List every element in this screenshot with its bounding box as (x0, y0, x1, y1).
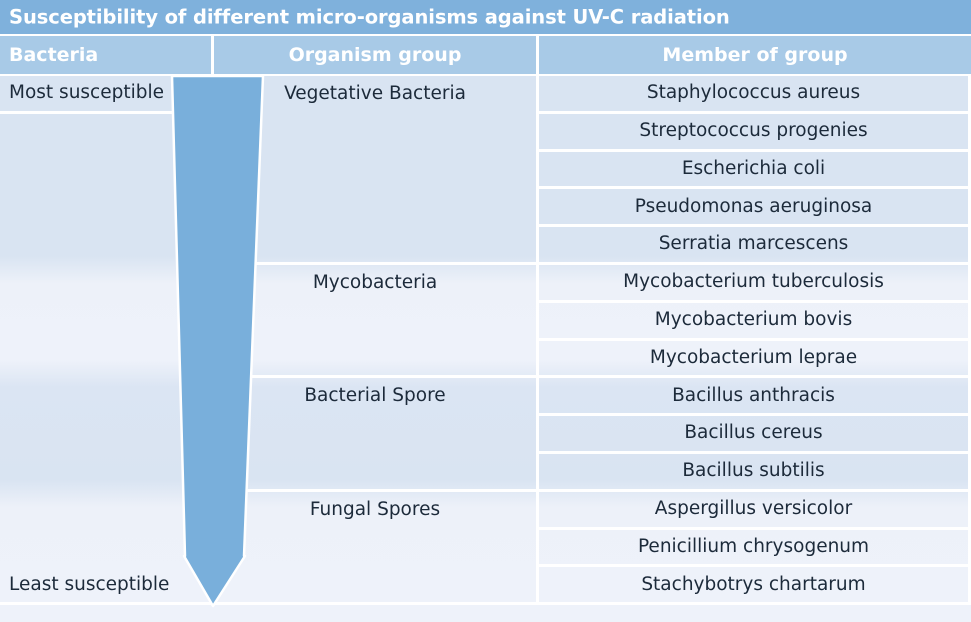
member-cell-7-label: Mycobacterium leprae (650, 349, 857, 368)
member-cell-8: Bacillus anthracis (539, 378, 971, 416)
member-cell-13-label: Stachybotrys chartarum (641, 576, 865, 595)
member-cell-12: Penicillium chrysogenum (539, 530, 971, 568)
organism-group-cell-1-label: Mycobacteria (313, 274, 437, 293)
scale-label-most-susceptible-label: Most susceptible (9, 84, 164, 103)
column-header-organism-group: Organism group (214, 36, 536, 74)
scale-label-least-susceptible: Least susceptible (0, 567, 214, 605)
organism-group-cell-0-label: Vegetative Bacteria (284, 85, 466, 104)
member-cell-3-label: Pseudomonas aeruginosa (635, 198, 873, 217)
organism-group-cell-2-label: Bacterial Spore (304, 387, 445, 406)
member-cell-4-label: Serratia marcescens (659, 235, 849, 254)
scale-label-least-susceptible-label: Least susceptible (9, 576, 169, 595)
member-cell-10: Bacillus subtilis (539, 454, 971, 492)
member-cell-11-label: Aspergillus versicolor (655, 500, 852, 519)
member-cell-7: Mycobacterium leprae (539, 341, 971, 379)
page-title: Susceptibility of different micro-organi… (9, 6, 730, 29)
organism-group-cell-3: Fungal Spores (214, 492, 539, 605)
organism-group-cell-1: Mycobacteria (214, 265, 539, 378)
member-cell-1: Streptococcus progenies (539, 114, 971, 152)
member-cell-0-label: Staphylococcus aureus (647, 84, 860, 103)
member-cell-5-label: Mycobacterium tuberculosis (623, 273, 884, 292)
member-cell-3: Pseudomonas aeruginosa (539, 189, 971, 227)
column-header-member-of-group: Member of group (539, 36, 971, 74)
column-header-bacteria: Bacteria (0, 36, 211, 74)
member-cell-0: Staphylococcus aureus (539, 76, 971, 114)
member-cell-2-label: Escherichia coli (682, 160, 825, 179)
table-title-band: Susceptibility of different micro-organi… (0, 0, 971, 34)
member-cell-10-label: Bacillus subtilis (682, 462, 824, 481)
member-cell-8-label: Bacillus anthracis (672, 387, 835, 406)
member-cell-4: Serratia marcescens (539, 227, 971, 265)
organism-group-cell-0: Vegetative Bacteria (214, 76, 539, 265)
member-cell-9: Bacillus cereus (539, 416, 971, 454)
member-cell-1-label: Streptococcus progenies (639, 122, 867, 141)
member-cell-9-label: Bacillus cereus (684, 424, 822, 443)
member-cell-12-label: Penicillium chrysogenum (638, 538, 869, 557)
member-cell-2: Escherichia coli (539, 152, 971, 190)
organism-group-cell-2: Bacterial Spore (214, 378, 539, 491)
member-cell-11: Aspergillus versicolor (539, 492, 971, 530)
scale-label-most-susceptible: Most susceptible (0, 76, 214, 114)
scale-arrow-cell (0, 114, 214, 568)
member-cell-6: Mycobacterium bovis (539, 303, 971, 341)
table-header-row: Bacteria Organism group Member of group (0, 36, 971, 74)
organism-group-cell-3-label: Fungal Spores (310, 501, 440, 520)
member-cell-6-label: Mycobacterium bovis (655, 311, 852, 330)
member-cell-5: Mycobacterium tuberculosis (539, 265, 971, 303)
table-body: Most susceptibleLeast susceptibleVegetat… (0, 76, 971, 622)
member-cell-13: Stachybotrys chartarum (539, 567, 971, 605)
susceptibility-table-page: Susceptibility of different micro-organi… (0, 0, 971, 622)
